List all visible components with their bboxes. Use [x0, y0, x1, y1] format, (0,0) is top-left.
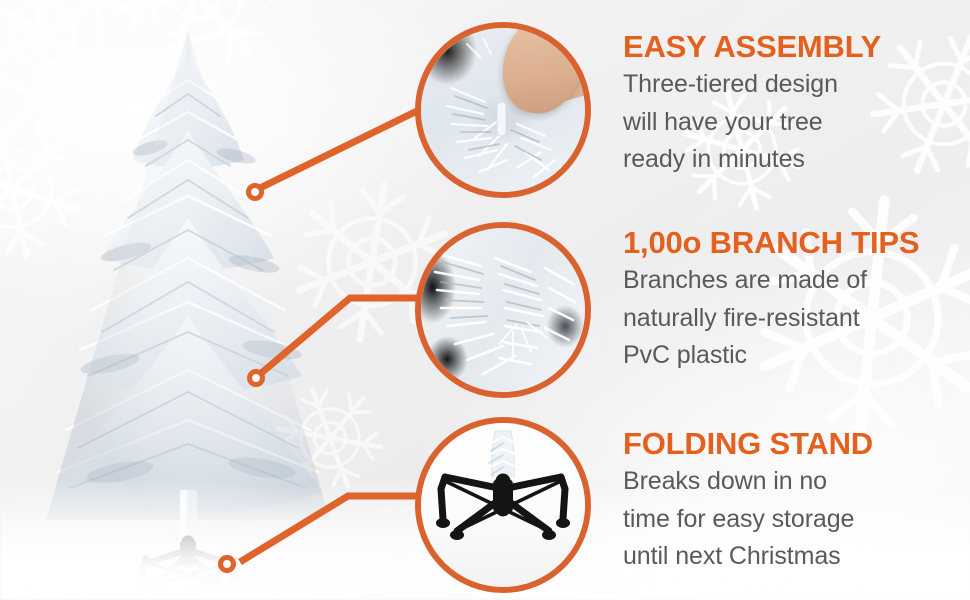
feature-body: Three-tiered design will have your tree …: [623, 66, 959, 179]
feature-body-line: until next Christmas: [623, 538, 959, 576]
feature-body-line: time for easy storage: [623, 501, 959, 539]
feature-block-folding-stand: FOLDING STAND Breaks down in no time for…: [623, 427, 959, 576]
callout-photo-folding-stand[interactable]: [415, 417, 591, 593]
feature-heading: FOLDING STAND: [623, 427, 959, 461]
connector-line-1: [258, 110, 419, 189]
connector-dot-1: [249, 186, 262, 199]
infographic-canvas: EASY ASSEMBLY Three-tiered design will h…: [0, 0, 970, 600]
feature-body-line: ready in minutes: [623, 141, 959, 179]
feature-block-easy-assembly: EASY ASSEMBLY Three-tiered design will h…: [623, 30, 959, 179]
feature-body-line: Branches are made of: [623, 262, 959, 300]
callout-photo-branch-tips[interactable]: [415, 222, 591, 398]
feature-body-line: will have your tree: [623, 104, 959, 142]
feature-heading: 1,00o BRANCH TIPS: [623, 226, 959, 260]
callout-photo-easy-assembly[interactable]: [415, 22, 591, 198]
connector-line-2: [259, 298, 419, 375]
christmas-tree: [0, 20, 380, 580]
feature-block-branch-tips: 1,00o BRANCH TIPS Branches are made of n…: [623, 226, 959, 375]
photo-folding-stand: [421, 423, 585, 587]
connector-dot-2: [250, 372, 263, 385]
feature-body-line: PvC plastic: [623, 337, 959, 375]
feature-body-line: Three-tiered design: [623, 66, 959, 104]
feature-body: Breaks down in no time for easy storage …: [623, 463, 959, 576]
feature-body-line: Breaks down in no: [623, 463, 959, 501]
photo-hand-assembling-branches: [421, 28, 585, 192]
feature-body: Branches are made of naturally fire-resi…: [623, 262, 959, 375]
tree-stand: [132, 528, 244, 594]
connector-line-3: [240, 496, 419, 562]
feature-heading: EASY ASSEMBLY: [623, 30, 959, 64]
photo-branch-tips-closeup: [421, 228, 585, 392]
feature-body-line: naturally fire-resistant: [623, 300, 959, 338]
connector-dot-3: [221, 558, 234, 571]
